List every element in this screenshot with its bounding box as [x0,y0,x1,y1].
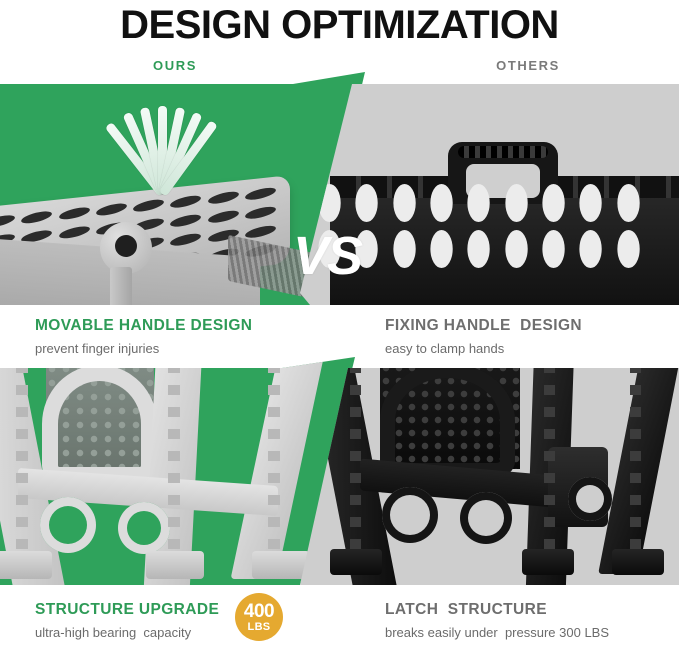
caption-heading: FIXING HANDLE DESIGN [385,316,582,335]
caption-subtext: breaks easily under pressure 300 LBS [385,624,609,642]
caption-subtext: ultra-high bearing capacity [35,624,219,642]
caption-subtext: prevent finger injuries [35,340,252,358]
caption-subtext: easy to clamp hands [385,340,582,358]
black-leg-cutout [568,477,612,521]
black-leg-cutout [382,487,438,543]
black-stool-foot [330,549,382,575]
black-notch-strip [544,363,555,563]
movable-handle-fan-icon [118,94,208,194]
stool-foot [252,551,310,579]
stool-foot [146,551,204,579]
caption-ours-row1: MOVABLE HANDLE DESIGN prevent finger inj… [35,316,252,358]
leg-notch-strip [16,363,28,563]
leg-notch-strip [168,363,180,563]
handle-grip-ridges [458,146,548,158]
black-notch-strip [630,363,641,563]
comparison-row-2: VS [0,357,679,585]
leg-cutout-circle [40,497,96,553]
black-leg-cutout [460,492,512,544]
black-stool-foot [612,549,664,575]
stool-foot [0,551,52,579]
others-panel-row2 [300,357,679,585]
column-label-others: OTHERS [468,58,588,73]
black-notch-strip [350,363,361,563]
caption-heading: STRUCTURE UPGRADE [35,600,219,619]
capacity-value: 400 [244,602,274,621]
infographic-page: DESIGN OPTIMIZATION OURS OTHERS [0,0,679,648]
capacity-unit: LBS [248,622,271,633]
caption-others-row1: FIXING HANDLE DESIGN easy to clamp hands [385,316,582,358]
caption-others-row2: LATCH STRUCTURE breaks easily under pres… [385,600,609,642]
caption-ours-row2: STRUCTURE UPGRADE ultra-high bearing cap… [35,600,219,642]
leg-notch-strip [268,363,280,563]
capacity-badge: 400 LBS [235,593,283,641]
black-stool-foot [522,549,574,575]
column-label-ours: OURS [115,58,235,73]
caption-heading: LATCH STRUCTURE [385,600,609,619]
stool-leg-post [110,267,132,305]
structure-arch [42,365,157,483]
black-stool-hole-grid [314,184,644,268]
vs-badge-row1: VS [293,229,361,283]
page-title: DESIGN OPTIMIZATION [0,0,679,48]
comparison-row-1: VS [0,72,679,305]
caption-heading: MOVABLE HANDLE DESIGN [35,316,252,335]
black-structure-arch [380,363,515,478]
others-product-image-row2 [300,357,679,585]
leg-cutout-circle [118,502,170,554]
